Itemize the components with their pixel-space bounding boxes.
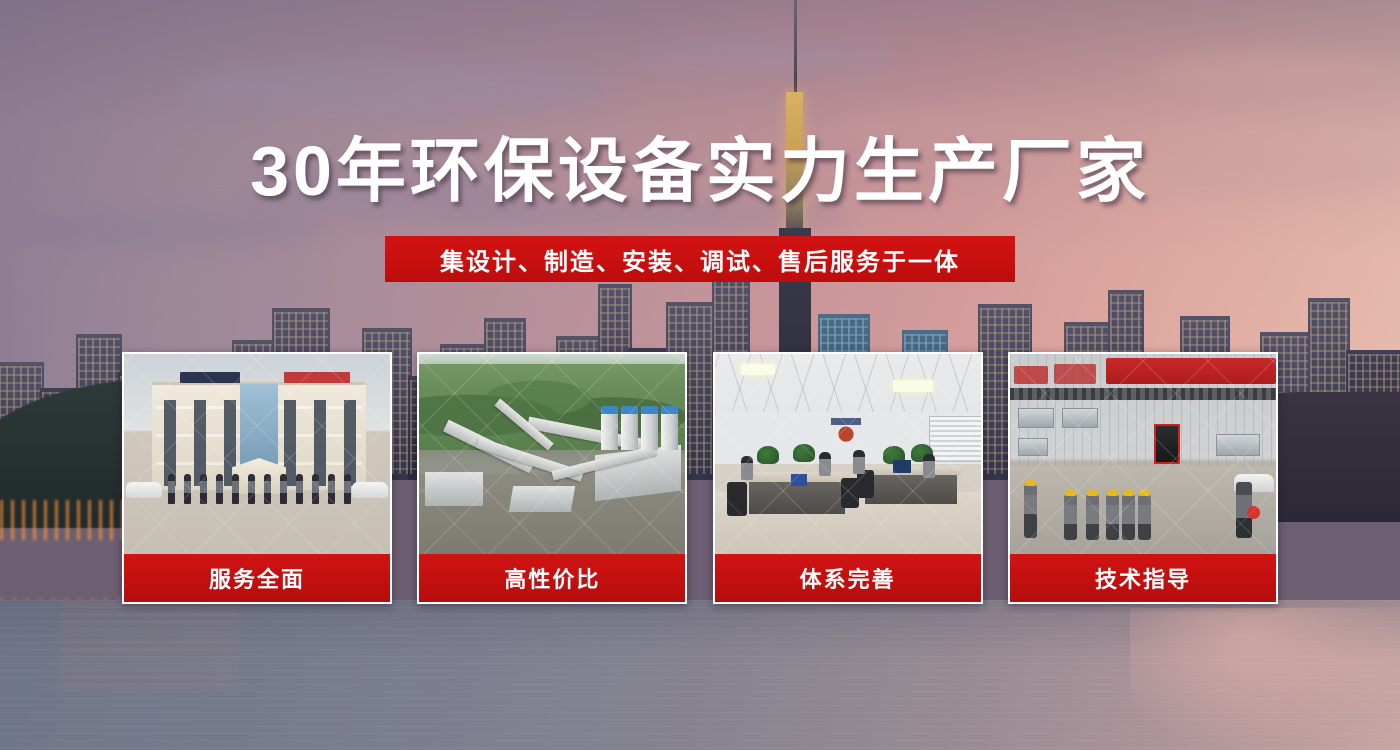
feature-card-list: 服务全面 高性价比 [122,352,1278,604]
feature-card[interactable]: 体系完善 [713,352,983,604]
card-label-text: 技术指导 [1095,562,1191,594]
feature-card[interactable]: 高性价比 [417,352,687,604]
window-blinds [929,416,981,462]
subtitle-banner: 集设计、制造、安装、调试、售后服务于一体 [385,236,1015,282]
cloud [1150,55,1400,85]
cloud [20,210,320,250]
red-helmet [1247,506,1260,519]
feature-card[interactable]: 服务全面 [122,352,392,604]
card-photo-office-building [124,354,390,554]
building-sign [180,372,240,383]
factory-door [1154,424,1180,464]
cloud [180,60,610,118]
building-phone-sign [284,372,350,383]
factory-banner-sign [1106,358,1276,384]
cloud [640,40,900,74]
page-title: 30年环保设备实力生产厂家 [0,131,1400,211]
water-glow [1130,608,1400,748]
card-label: 技术指导 [1010,554,1276,602]
card-photo-training-yard [1010,354,1276,554]
water-reflection [60,604,240,694]
card-label: 体系完善 [715,554,981,602]
card-label-text: 高性价比 [504,562,600,594]
card-label: 高性价比 [419,554,685,602]
wall-decal [831,418,861,444]
card-label: 服务全面 [124,554,390,602]
card-photo-office-interior [715,354,981,554]
card-label-text: 体系完善 [800,562,896,594]
subtitle-text: 集设计、制造、安装、调试、售后服务于一体 [440,242,960,277]
feature-card[interactable]: 技术指导 [1008,352,1278,604]
card-label-text: 服务全面 [209,562,305,594]
card-photo-plant-aerial [419,354,685,554]
